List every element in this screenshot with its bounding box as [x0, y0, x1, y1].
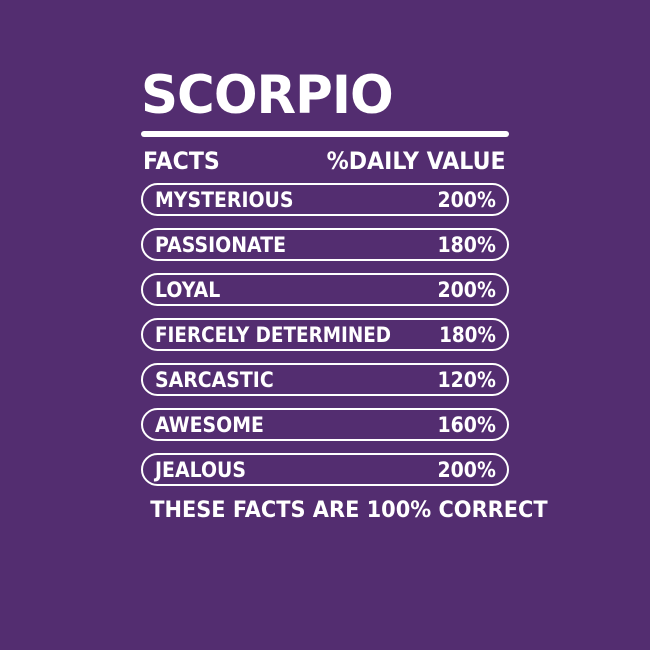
column-header-facts: FACTS	[143, 148, 220, 174]
fact-label: FIERCELY DETERMINED	[155, 324, 391, 346]
poster-content: SCORPIO FACTS %DAILY VALUE MYSTERIOUS 20…	[141, 68, 509, 523]
fact-row: AWESOME 160%	[141, 408, 509, 441]
fact-label: MYSTERIOUS	[155, 189, 294, 211]
fact-row: FIERCELY DETERMINED 180%	[141, 318, 509, 351]
fact-rows-list: MYSTERIOUS 200% PASSIONATE 180% LOYAL 20…	[141, 183, 509, 486]
fact-label: SARCASTIC	[155, 369, 274, 391]
title-divider	[141, 131, 509, 137]
fact-value: 120%	[438, 369, 496, 391]
column-header-daily-value: %DAILY VALUE	[327, 148, 506, 174]
fact-row: SARCASTIC 120%	[141, 363, 509, 396]
page-title: SCORPIO	[141, 68, 498, 124]
fact-value: 180%	[438, 234, 496, 256]
scorpio-facts-poster: SCORPIO FACTS %DAILY VALUE MYSTERIOUS 20…	[0, 0, 650, 650]
footer-disclaimer: THESE FACTS ARE 100% CORRECT	[150, 499, 500, 523]
fact-value: 200%	[438, 279, 496, 301]
fact-label: JEALOUS	[155, 459, 246, 481]
fact-value: 180%	[439, 324, 496, 346]
fact-label: PASSIONATE	[155, 234, 286, 256]
fact-value: 160%	[438, 414, 496, 436]
fact-label: LOYAL	[155, 279, 220, 301]
fact-row: MYSTERIOUS 200%	[141, 183, 509, 216]
fact-label: AWESOME	[155, 414, 264, 436]
fact-value: 200%	[438, 189, 496, 211]
fact-row: PASSIONATE 180%	[141, 228, 509, 261]
fact-row: JEALOUS 200%	[141, 453, 509, 486]
fact-value: 200%	[438, 459, 496, 481]
fact-row: LOYAL 200%	[141, 273, 509, 306]
column-headers: FACTS %DAILY VALUE	[141, 148, 509, 174]
